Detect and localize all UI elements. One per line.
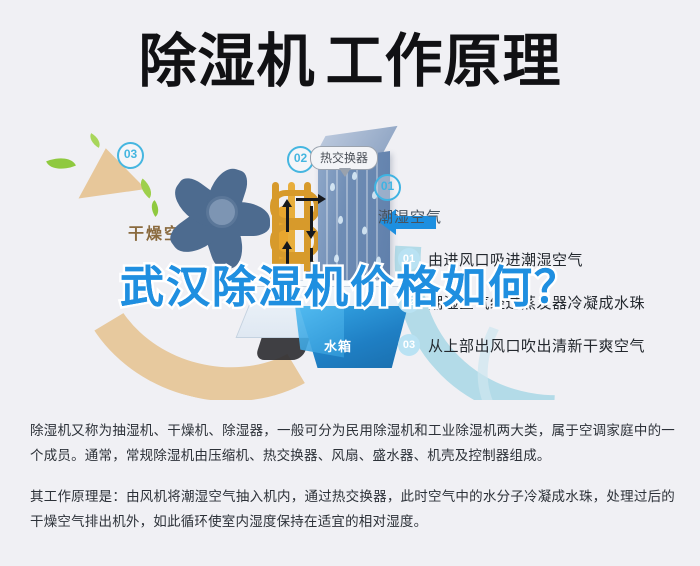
watermark-text: 武汉除湿机价格如何？ [0, 262, 700, 314]
body-copy: 除湿机又称为抽湿机、干燥机、除湿器，一般可分为民用除湿机和工业除湿机两大类，属于… [30, 418, 675, 550]
list-item: 03 从上部出风口吹出清新干爽空气 [398, 334, 698, 356]
diagram-badge-03: 03 [117, 142, 144, 169]
heat-exchanger-callout: 热交换器 [310, 146, 378, 170]
leaf-icon [46, 152, 76, 176]
page-title-part2: 工作原理 [326, 27, 562, 95]
refrigerant-flow-arrow [296, 198, 318, 201]
paragraph-1: 除湿机又称为抽湿机、干燥机、除湿器，一般可分为民用除湿机和工业除湿机两大类，属于… [30, 418, 675, 468]
paragraph-2: 其工作原理是：由风机将潮湿空气抽入机内，通过热交换器，此时空气中的水分子冷凝成水… [30, 484, 675, 534]
fan-hub [206, 196, 238, 228]
step-text: 从上部出风口吹出清新干爽空气 [428, 335, 645, 356]
refrigerant-flow-arrow [286, 206, 289, 232]
diagram-badge-01: 01 [374, 174, 401, 201]
poster-root: 除湿机工作原理 干燥空气 [0, 0, 700, 566]
water-droplet-icon [330, 183, 335, 192]
humid-air-label: 潮湿空气 [378, 206, 442, 227]
page-title-part1: 除湿机 [138, 27, 315, 95]
water-droplet-icon [338, 216, 343, 225]
step-badge: 03 [398, 334, 420, 356]
refrigerant-flow-arrow [310, 206, 313, 232]
leaf-icon [87, 133, 104, 148]
page-title: 除湿机工作原理 [0, 30, 700, 92]
water-tank-label: 水箱 [324, 336, 352, 355]
